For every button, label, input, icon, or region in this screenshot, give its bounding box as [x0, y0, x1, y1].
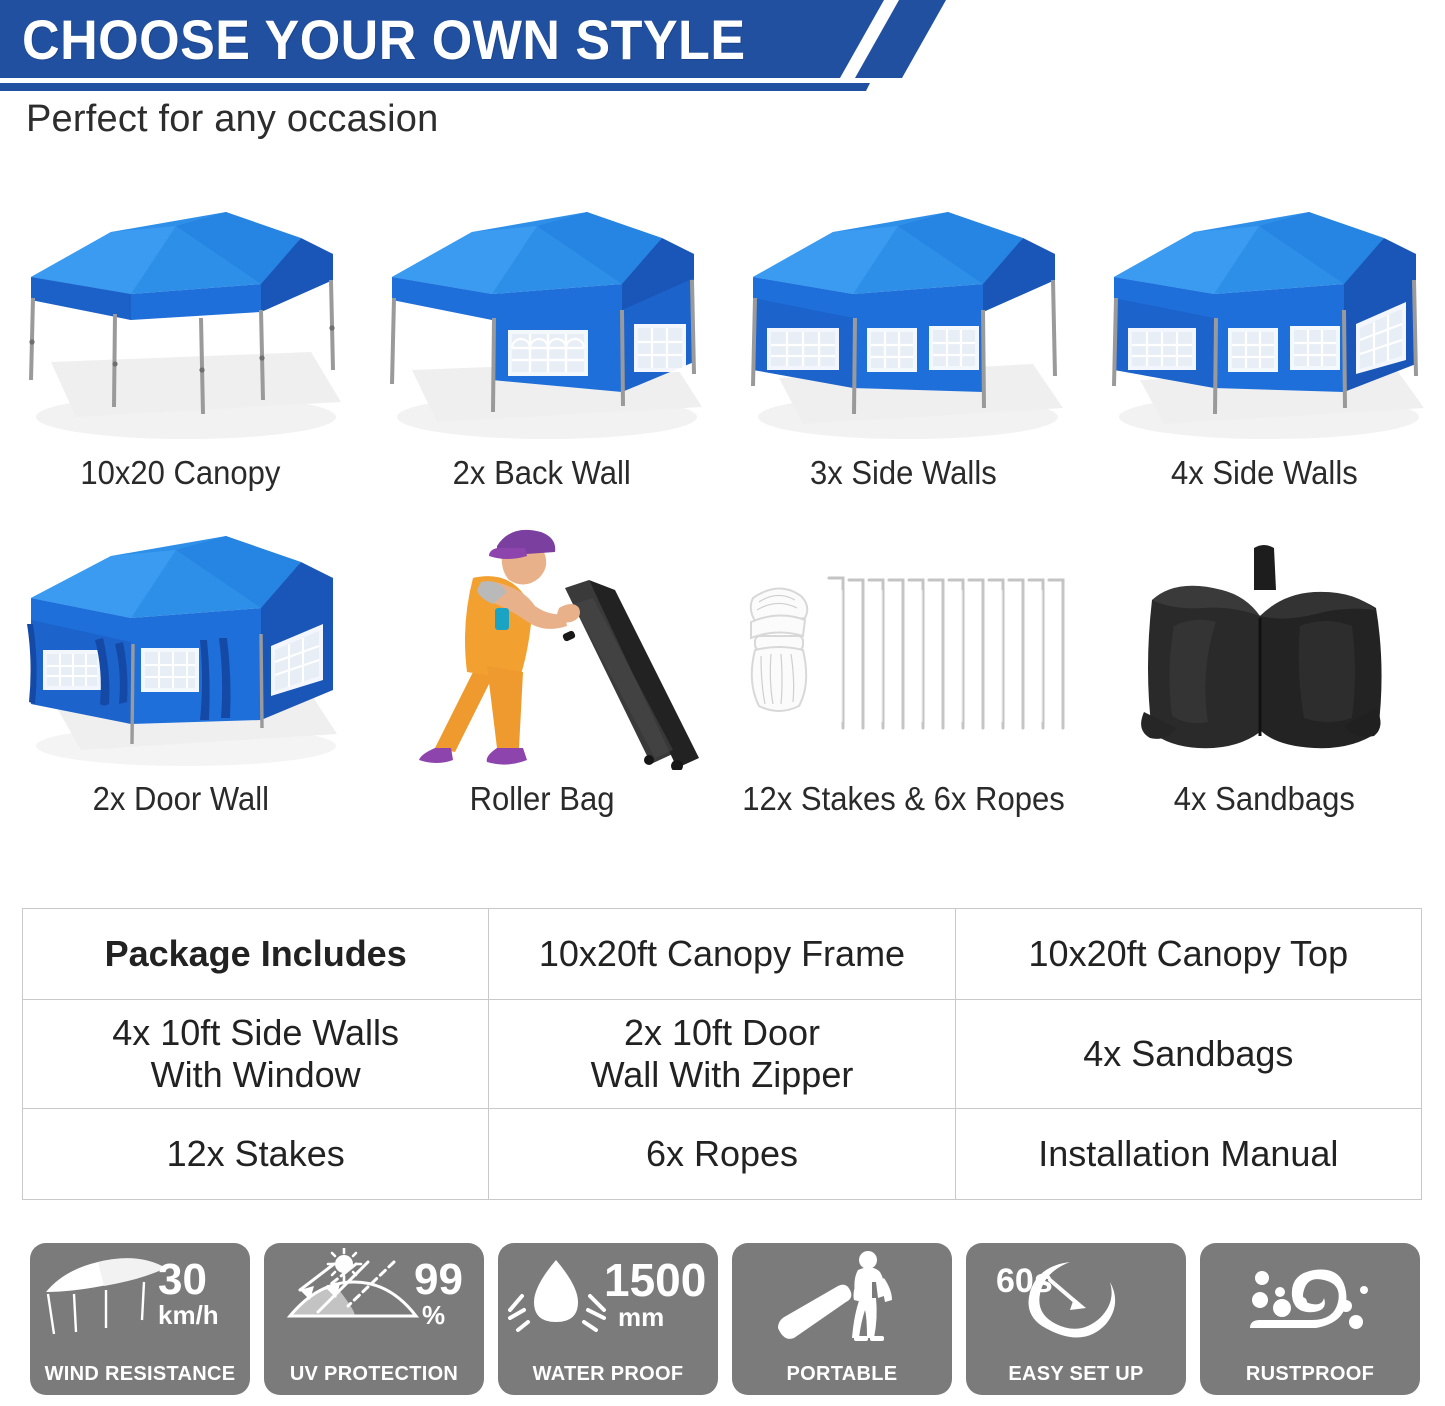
table-row: Package Includes 10x20ft Canopy Frame 10… — [23, 909, 1422, 1000]
product-canopy: 10x20 Canopy — [0, 196, 361, 492]
product-3-side-walls: 3x Side Walls — [723, 196, 1084, 492]
person-carrying-bag-icon — [732, 1243, 952, 1347]
badge-value-text: 60s — [996, 1262, 1053, 1300]
badge-easy-set-up: 60s EASY SET UP — [966, 1243, 1186, 1395]
badge-unit-text: % — [422, 1300, 445, 1330]
product-stakes-ropes: 12x Stakes & 6x Ropes — [723, 522, 1084, 818]
sandbag-illustration — [1084, 522, 1445, 770]
table-cell-ropes: 6x Ropes — [489, 1109, 955, 1200]
table-cell-sandbags: 4x Sandbags — [955, 1000, 1421, 1109]
product-label: 10x20 Canopy — [81, 454, 281, 492]
water-drop-icon: 1500 mm — [498, 1243, 718, 1347]
wind-swirl-icon — [1200, 1243, 1420, 1347]
badge-label: UV PROTECTION — [264, 1363, 484, 1386]
feature-badges: 30 km/h WIND RESISTANCE — [30, 1243, 1420, 1395]
sun-uv-icon: 99 % — [264, 1243, 484, 1347]
cell-line-2: Wall With Zipper — [493, 1054, 950, 1096]
cell-line-1: 4x Sandbags — [960, 1033, 1417, 1075]
canopy-4-side-walls-illustration — [1084, 196, 1445, 444]
table-row: 12x Stakes 6x Ropes Installation Manual — [23, 1109, 1422, 1200]
badge-label: PORTABLE — [732, 1363, 952, 1386]
header-banner: CHOOSE YOUR OWN STYLE — [0, 0, 1445, 92]
product-label: 4x Sandbags — [1174, 780, 1355, 818]
badge-value-text: 99 — [414, 1255, 463, 1304]
product-label: 2x Back Wall — [453, 454, 631, 492]
page-title: CHOOSE YOUR OWN STYLE — [22, 4, 746, 74]
badge-unit-text: mm — [618, 1302, 664, 1332]
table-cell-package-includes: Package Includes — [23, 909, 489, 1000]
product-label: 12x Stakes & 6x Ropes — [742, 780, 1064, 818]
product-roller-bag: Roller Bag — [361, 522, 722, 818]
stakes-and-ropes-illustration — [723, 522, 1084, 770]
badge-unit-text: km/h — [158, 1300, 219, 1330]
canopy-plain-illustration — [0, 196, 361, 444]
badge-uv-protection: 99 % UV PROTECTION — [264, 1243, 484, 1395]
cell-line-1: 2x 10ft Door — [493, 1012, 950, 1054]
package-includes-table: Package Includes 10x20ft Canopy Frame 10… — [22, 908, 1422, 1200]
table-cell-canopy-top: 10x20ft Canopy Top — [955, 909, 1421, 1000]
canopy-back-wall-illustration — [361, 196, 722, 444]
clock-swoosh-icon: 60s — [966, 1243, 1186, 1347]
badge-portable: PORTABLE — [732, 1243, 952, 1395]
table-cell-door-wall: 2x 10ft Door Wall With Zipper — [489, 1000, 955, 1109]
badge-rustproof: RUSTPROOF — [1200, 1243, 1420, 1395]
roller-bag-person-illustration — [361, 522, 722, 770]
canopy-3-side-walls-illustration — [723, 196, 1084, 444]
table-cell-canopy-frame: 10x20ft Canopy Frame — [489, 909, 955, 1000]
table-cell-manual: Installation Manual — [955, 1109, 1421, 1200]
product-label: Roller Bag — [469, 780, 614, 818]
cell-line-1: 4x 10ft Side Walls — [27, 1012, 484, 1054]
product-sandbags: 4x Sandbags — [1084, 522, 1445, 818]
canopy-door-wall-illustration — [0, 522, 361, 770]
table-cell-stakes: 12x Stakes — [23, 1109, 489, 1200]
badge-label: EASY SET UP — [966, 1363, 1186, 1386]
product-back-wall: 2x Back Wall — [361, 196, 722, 492]
badge-label: RUSTPROOF — [1200, 1363, 1420, 1386]
product-label: 4x Side Walls — [1171, 454, 1358, 492]
product-row-1: 10x20 Canopy — [0, 196, 1445, 492]
product-label: 2x Door Wall — [92, 780, 268, 818]
badge-value-text: 30 — [158, 1255, 207, 1304]
badge-water-proof: 1500 mm WATER PROOF — [498, 1243, 718, 1395]
badge-label: WATER PROOF — [498, 1363, 718, 1386]
product-row-2: 2x Door Wall — [0, 522, 1445, 818]
product-door-wall: 2x Door Wall — [0, 522, 361, 818]
cell-line-2: With Window — [27, 1054, 484, 1096]
badge-label: WIND RESISTANCE — [30, 1363, 250, 1386]
page-subtitle: Perfect for any occasion — [26, 98, 438, 141]
product-label: 3x Side Walls — [810, 454, 997, 492]
canopy-icon: 30 km/h — [30, 1243, 250, 1347]
table-row: 4x 10ft Side Walls With Window 2x 10ft D… — [23, 1000, 1422, 1109]
badge-wind-resistance: 30 km/h WIND RESISTANCE — [30, 1243, 250, 1395]
product-4-side-walls: 4x Side Walls — [1084, 196, 1445, 492]
badge-value-text: 1500 — [604, 1254, 706, 1306]
table-cell-side-walls: 4x 10ft Side Walls With Window — [23, 1000, 489, 1109]
